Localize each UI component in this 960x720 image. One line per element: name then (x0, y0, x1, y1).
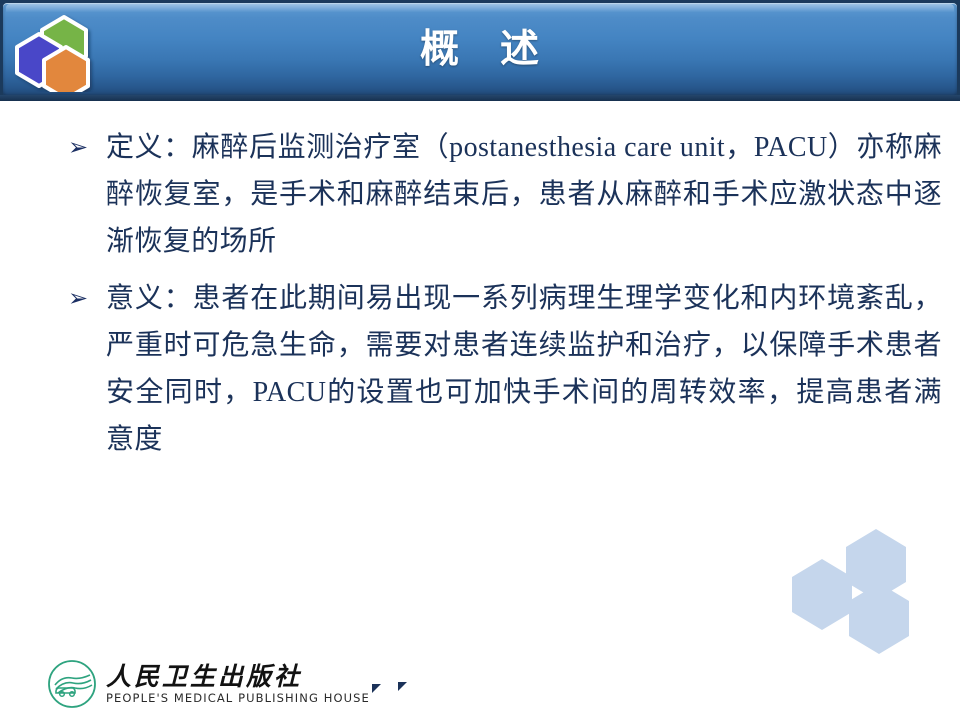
bullet-arrow-icon: ➢ (68, 124, 98, 171)
stray-mark (372, 684, 381, 693)
slide-canvas: 概 述 ➢ 定义：麻醉后监测治疗室（postanesthesia care un… (0, 0, 960, 720)
bullet-arrow-icon: ➢ (68, 275, 98, 322)
page-title: 概 述 (0, 26, 960, 74)
deco-hex-bottom-icon (849, 583, 909, 654)
publisher-logo: 人民卫生出版社 PEOPLE'S MEDICAL PUBLISHING HOUS… (46, 656, 336, 712)
publisher-wordmark: 人民卫生出版社 PEOPLE'S MEDICAL PUBLISHING HOUS… (106, 663, 370, 706)
stray-text-artifacts (372, 682, 422, 696)
stray-mark (398, 682, 407, 691)
header-banner: 概 述 (0, 0, 960, 101)
bullet-text-definition: 定义：麻醉后监测治疗室（postanesthesia care unit，PAC… (106, 124, 942, 265)
publisher-name-cn: 人民卫生出版社 (106, 663, 370, 691)
deco-hex-left-icon (792, 559, 852, 630)
bullet-item-significance: ➢ 意义：患者在此期间易出现一系列病理生理学变化和内环境紊乱，严重时可危急生命，… (62, 275, 942, 463)
banner-bottom-band (0, 95, 960, 101)
slide-body: ➢ 定义：麻醉后监测治疗室（postanesthesia care unit，P… (62, 124, 942, 467)
publisher-emblem-icon (46, 658, 98, 710)
bullet-item-definition: ➢ 定义：麻醉后监测治疗室（postanesthesia care unit，P… (62, 124, 942, 265)
bullet-text-significance: 意义：患者在此期间易出现一系列病理生理学变化和内环境紊乱，严重时可危急生命，需要… (106, 275, 942, 463)
publisher-name-en: PEOPLE'S MEDICAL PUBLISHING HOUSE (106, 691, 370, 706)
decorative-hexagons (780, 525, 932, 665)
